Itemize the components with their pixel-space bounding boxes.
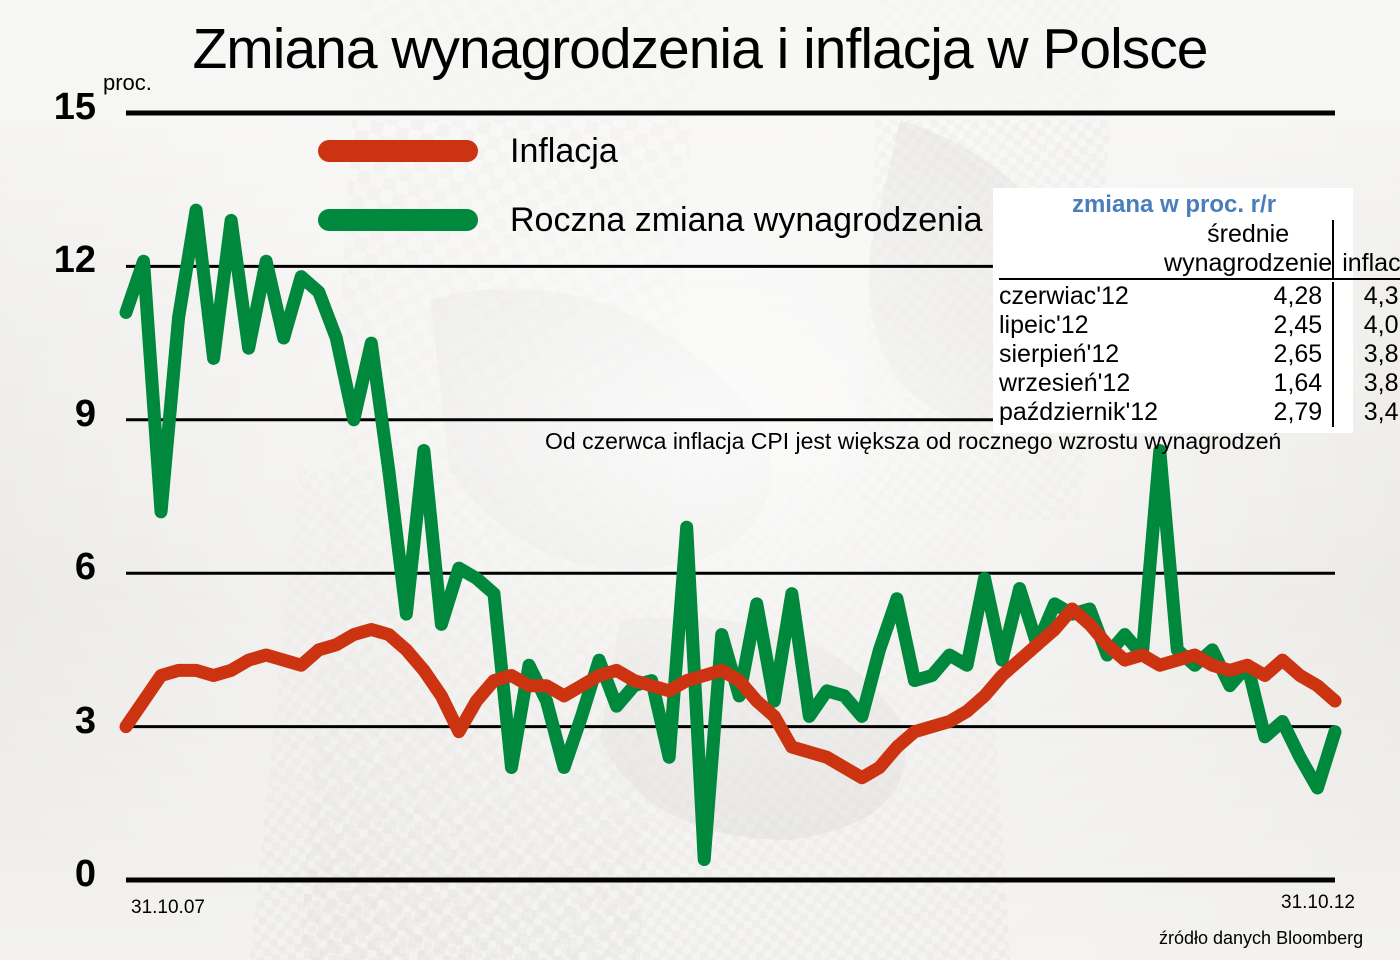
table-header-inflacja: inflacja [1333, 249, 1400, 279]
table-title: zmiana w proc. r/r [999, 191, 1349, 219]
table-header-row-1: średnie [999, 220, 1400, 249]
summary-table: zmiana w proc. r/r średnie wynagrodzenie… [993, 188, 1353, 433]
table-row: lipeic'122,454,0 [999, 311, 1400, 340]
table-cell-month: sierpień'12 [999, 340, 1164, 369]
table-row: czerwiac'124,284,3 [999, 282, 1400, 311]
axis-start-date: 31.10.07 [131, 897, 205, 919]
series-line-inflacja [126, 609, 1335, 778]
table-cell-month: lipeic'12 [999, 311, 1164, 340]
table-row: wrzesień'121,643,8 [999, 369, 1400, 398]
y-tick-12: 12 [32, 239, 96, 282]
table-row: sierpień'122,653,8 [999, 340, 1400, 369]
table-grid: średnie wynagrodzenie inflacja czerwiac'… [999, 220, 1400, 427]
table-header-wynagrodzenie: wynagrodzenie [1164, 249, 1333, 279]
table-body: czerwiac'124,284,3lipeic'122,454,0sierpi… [999, 282, 1400, 427]
table-cell-wage: 2,45 [1164, 311, 1333, 340]
table-cell-wage: 2,65 [1164, 340, 1333, 369]
y-tick-15: 15 [32, 86, 96, 129]
table-cell-inflation: 4,3 [1333, 282, 1400, 311]
legend-swatch-wynagrodzenie [318, 209, 478, 231]
table-cell-month: październik'12 [999, 398, 1164, 427]
table-cell-inflation: 3,8 [1333, 340, 1400, 369]
legend-swatch-inflacja [318, 140, 478, 162]
table-header-spacer [999, 220, 1164, 249]
table-cell-inflation: 4,0 [1333, 311, 1400, 340]
y-axis-unit-label: proc. [103, 70, 152, 96]
table-cell-inflation: 3,8 [1333, 369, 1400, 398]
page-title: Zmiana wynagrodzenia i inflacja w Polsce [0, 18, 1400, 80]
table-header-srednie: średnie [1164, 220, 1333, 249]
legend-item-wynagrodzenie[interactable]: Roczna zmiana wynagrodzenia [318, 197, 982, 243]
legend-label-wynagrodzenie: Roczna zmiana wynagrodzenia [510, 201, 982, 240]
y-tick-6: 6 [32, 546, 96, 589]
table-cell-wage: 4,28 [1164, 282, 1333, 311]
table-header-month [999, 249, 1164, 279]
table-cell-month: czerwiac'12 [999, 282, 1164, 311]
y-tick-9: 9 [32, 393, 96, 436]
source-note: źródło danych Bloomberg [1159, 928, 1363, 949]
table-header-row-2: wynagrodzenie inflacja [999, 249, 1400, 279]
legend-label-inflacja: Inflacja [510, 132, 618, 171]
y-tick-3: 3 [32, 700, 96, 743]
chart-legend: Inflacja Roczna zmiana wynagrodzenia [318, 128, 982, 266]
table-cell-month: wrzesień'12 [999, 369, 1164, 398]
table-cell-inflation: 3,4 [1333, 398, 1400, 427]
legend-item-inflacja[interactable]: Inflacja [318, 128, 982, 174]
table-cell-wage: 1,64 [1164, 369, 1333, 398]
table-header-inflation-spacer [1333, 220, 1400, 249]
y-tick-0: 0 [32, 853, 96, 896]
table-row: październik'122,793,4 [999, 398, 1400, 427]
axis-end-date: 31.10.12 [1281, 892, 1355, 914]
table-cell-wage: 2,79 [1164, 398, 1333, 427]
